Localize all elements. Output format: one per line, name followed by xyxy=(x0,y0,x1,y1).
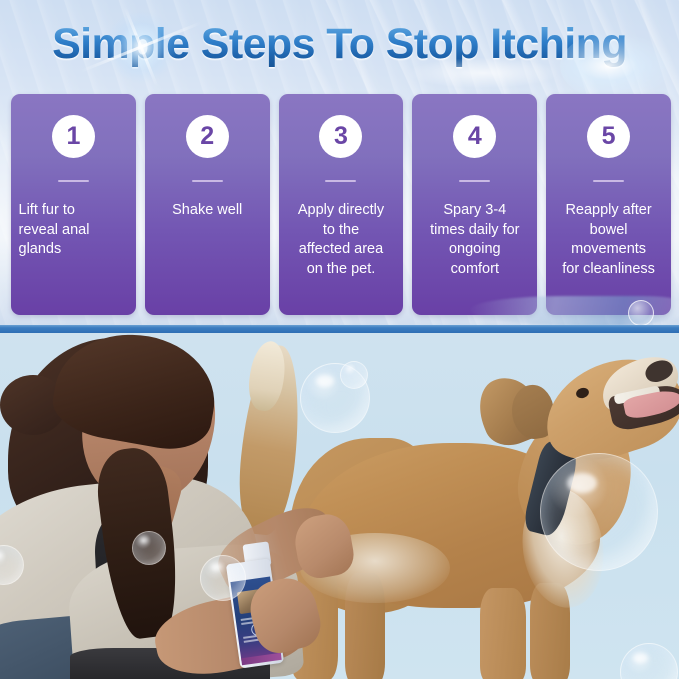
step-divider-line xyxy=(593,180,624,182)
dog-front-leg-left xyxy=(480,588,526,679)
step-text-4: Spary 3-4 times daily for ongoing comfor… xyxy=(410,201,540,279)
step-number-2: 2 xyxy=(200,124,214,149)
step-number-4: 4 xyxy=(468,124,482,149)
bubble-icon xyxy=(340,361,368,389)
step-text-5: Reapply after bowel movements for cleanl… xyxy=(539,201,679,279)
step-divider-line xyxy=(325,180,356,182)
step-divider-line xyxy=(459,180,490,182)
step-card-3[interactable]: 3 Apply directly to the affected area on… xyxy=(279,94,404,315)
step-number-5: 5 xyxy=(602,124,616,149)
step-divider-line xyxy=(58,180,89,182)
step-text-1: Lift fur to reveal anal glands xyxy=(9,201,139,260)
step-card-4[interactable]: 4 Spary 3-4 times daily for ongoing comf… xyxy=(412,94,537,315)
step-number-1: 1 xyxy=(66,124,80,149)
steps-panel: Simple Steps To Stop Itching Simple Step… xyxy=(0,0,679,333)
bubble-icon xyxy=(620,643,678,679)
step-number-badge: 4 xyxy=(453,115,496,158)
step-number-badge: 3 xyxy=(319,115,362,158)
lifestyle-photo xyxy=(0,333,679,679)
step-text-2: Shake well xyxy=(142,201,272,221)
bubble-icon xyxy=(300,363,370,433)
step-number-badge: 5 xyxy=(587,115,630,158)
step-text-3: Apply directly to the affected area on t… xyxy=(276,201,406,279)
product-infographic: Simple Steps To Stop Itching Simple Step… xyxy=(0,0,679,679)
section-divider xyxy=(0,325,679,333)
step-divider-line xyxy=(192,180,223,182)
page-title-wrap: Simple Steps To Stop Itching xyxy=(0,16,679,78)
step-number-badge: 1 xyxy=(52,115,95,158)
step-number-badge: 2 xyxy=(186,115,229,158)
page-title: Simple Steps To Stop Itching xyxy=(52,16,627,72)
step-card-list: 1 Lift fur to reveal anal glands 2 Shake… xyxy=(11,94,671,315)
step-card-2[interactable]: 2 Shake well xyxy=(145,94,270,315)
step-card-5[interactable]: 5 Reapply after bowel movements for clea… xyxy=(546,94,671,315)
step-number-3: 3 xyxy=(334,124,348,149)
step-card-1[interactable]: 1 Lift fur to reveal anal glands xyxy=(11,94,136,315)
